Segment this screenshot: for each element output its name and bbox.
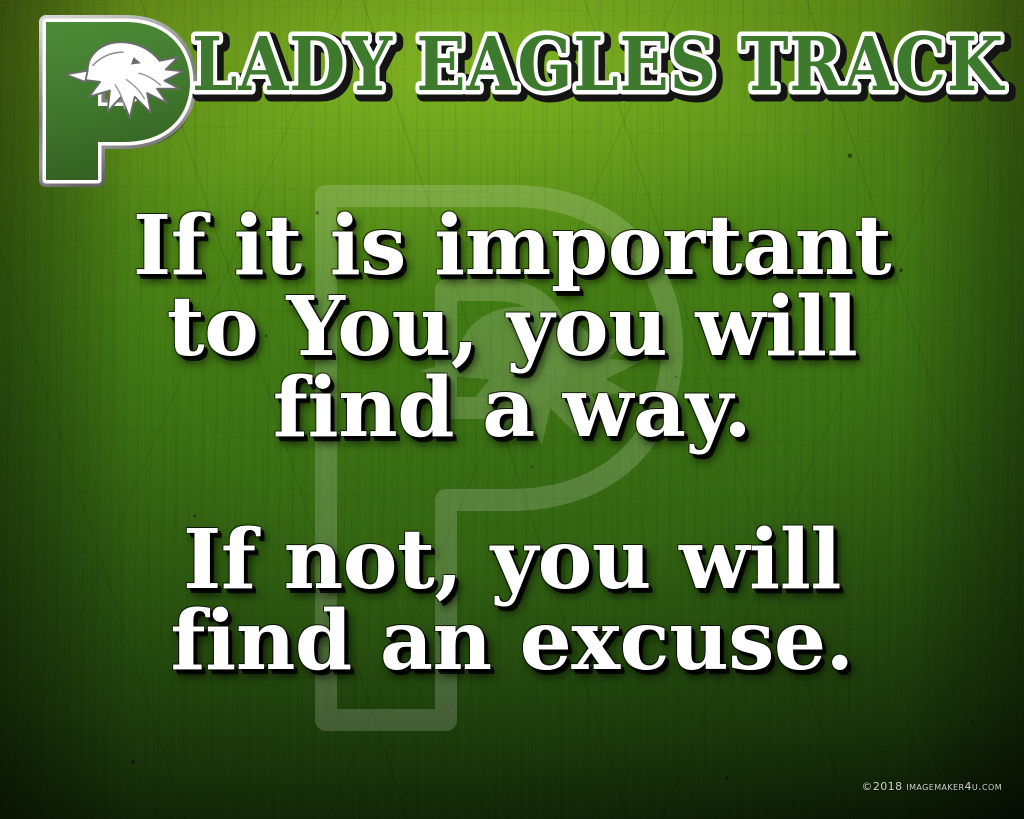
stanza-spacer xyxy=(0,450,1024,520)
poster-header: LADY EAGLES TRACK LADY EAGLES TRACK LADY… xyxy=(0,0,1024,190)
copyright-notice: ©2018 ImageMaker4u.com xyxy=(861,780,1002,793)
quote-block: If it is important to You, you will find… xyxy=(0,206,1024,682)
quote-line: If not, you will xyxy=(0,520,1024,601)
wordmark-label: LADY EAGLES TRACK xyxy=(192,22,1005,108)
wordmark: LADY EAGLES TRACK LADY EAGLES TRACK LADY… xyxy=(186,22,1016,114)
quote-line: If it is important xyxy=(0,206,1024,287)
school-logo xyxy=(34,12,202,190)
quote-line: find an excuse. xyxy=(0,601,1024,682)
quote-stanza-1: If it is important to You, you will find… xyxy=(0,206,1024,450)
quote-stanza-2: If not, you will find an excuse. xyxy=(0,520,1024,682)
quote-line: to You, you will xyxy=(0,287,1024,368)
quote-line: find a way. xyxy=(0,368,1024,449)
poster-canvas: LADY EAGLES TRACK LADY EAGLES TRACK LADY… xyxy=(0,0,1024,819)
